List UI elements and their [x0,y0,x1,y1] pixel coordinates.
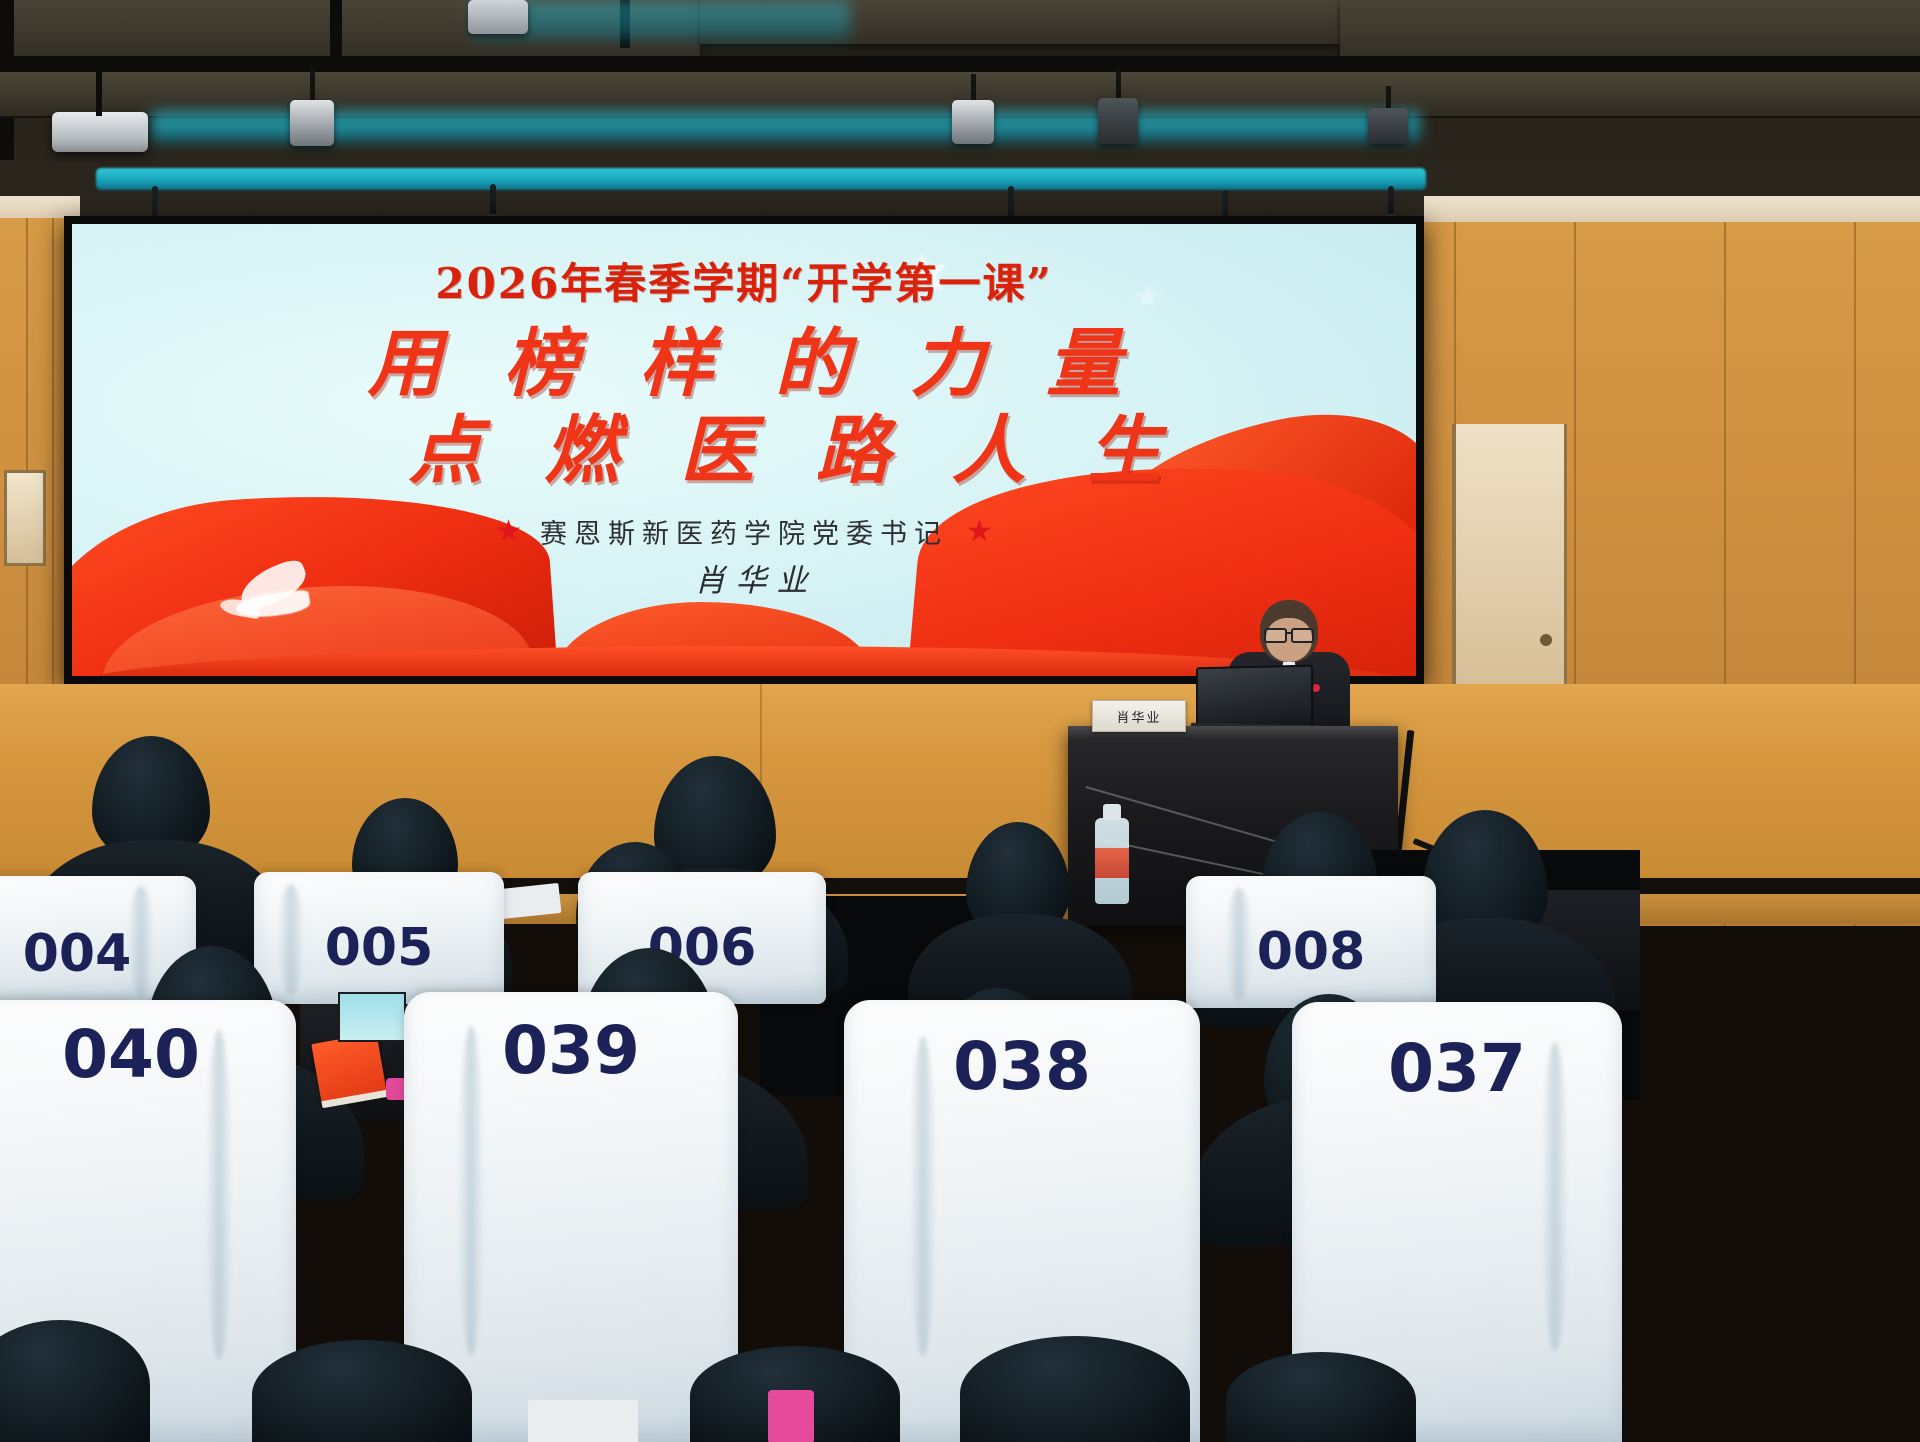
glasses-icon [1264,628,1314,640]
wall-picture-frame [4,470,46,566]
star-icon-right: ★ [966,514,993,549]
chair-number: 037 [1292,1030,1622,1107]
ceiling-beam [0,56,1920,72]
red-notebook [311,1033,386,1104]
stage-light-fixture [952,74,994,154]
slide-credit-line: ★ 赛恩斯新医药学院党委书记 ★ [72,512,1416,551]
lecture-hall-photo: ★ ★ 2026年春季学期“开学第一课” 用 榜 样 的 力 量 点 燃 医 路… [0,0,1920,1442]
slide-title-line-1: 用 榜 样 的 力 量 [72,321,1416,408]
chair-005: 005 [254,872,504,1004]
audience-head [960,1336,1190,1442]
projection-screen: ★ ★ 2026年春季学期“开学第一课” 用 榜 样 的 力 量 点 燃 医 路… [72,224,1416,676]
audience-head [1226,1352,1416,1442]
slide-title-line-2: 点 燃 医 路 人 生 [72,408,1416,495]
door-knob[interactable] [1540,634,1552,646]
stage-light-fixture [290,66,334,148]
ceiling-projector [52,112,148,152]
chair-number: 040 [0,1016,296,1093]
chair-008: 008 [1186,876,1436,1008]
ceiling-beam [330,0,342,58]
teal-light-strip [150,112,1420,142]
paper-sheet [499,883,562,919]
slide-kicker: 2026年春季学期“开学第一课” [72,250,1416,311]
projection-screen-frame: ★ ★ 2026年春季学期“开学第一课” 用 榜 样 的 力 量 点 燃 医 路… [64,216,1424,684]
slide-speaker-name: 肖华业 [72,555,1416,600]
star-icon-left: ★ [495,514,522,549]
chair-number: 039 [404,1012,738,1089]
projector-mount [96,70,102,116]
wall-trim [0,196,80,218]
stage-light-fixture [1368,86,1408,146]
audience-head [252,1340,472,1442]
ceiling-slab [1340,0,1920,62]
chair-number: 038 [844,1028,1200,1105]
stage-light-fixture [468,0,528,60]
stage-light-fixture [1098,66,1138,150]
slide-credit-text: 赛恩斯新医药学院党委书记 [540,512,948,551]
paper-sheet [528,1400,638,1442]
background-monitor [338,992,406,1042]
slide-content: 2026年春季学期“开学第一课” 用 榜 样 的 力 量 点 燃 医 路 人 生… [72,224,1416,600]
slide-main-title: 用 榜 样 的 力 量 点 燃 医 路 人 生 [72,321,1416,496]
teal-light-strip [96,168,1426,190]
audience-area: 004 005 006 008 040 [0,700,1920,1442]
chair-number: 008 [1186,922,1436,982]
pink-object [768,1390,814,1442]
wall-trim [1424,196,1920,222]
